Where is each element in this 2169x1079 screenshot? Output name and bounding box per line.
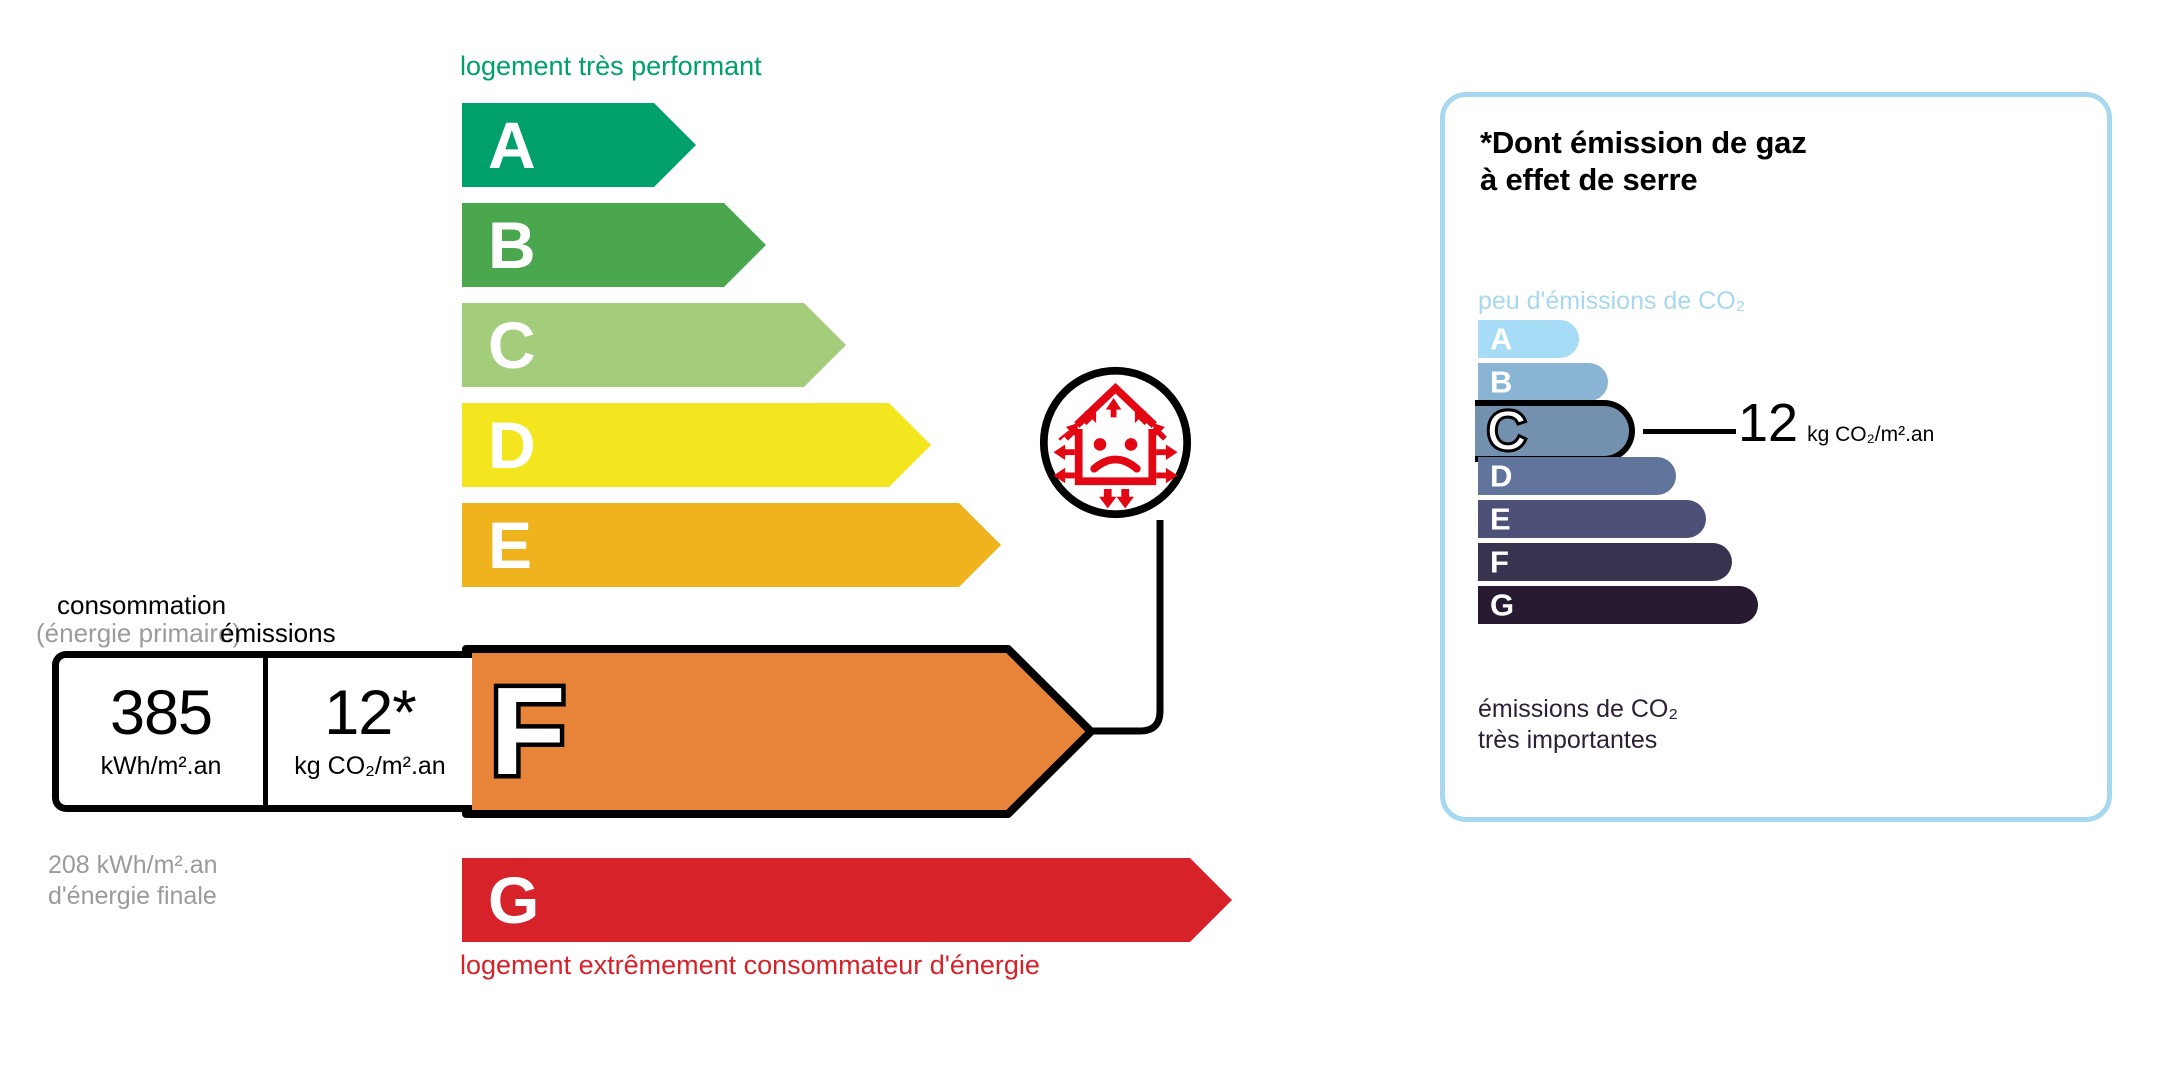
energy-bar-e: E — [462, 503, 1001, 587]
co2-bar-d: D — [1478, 457, 1676, 495]
co2-bar-f-letter: F — [1490, 547, 1509, 578]
consumption-value: 385 — [110, 682, 212, 745]
co2-bar-f: F — [1478, 543, 1732, 581]
co2-leader-line — [1643, 429, 1736, 434]
sad-house-heat-loss-icon — [1038, 365, 1193, 520]
energy-bar-g: G — [462, 858, 1232, 942]
co2-emissions-panel: *Dont émission de gaz à effet de serre p… — [1440, 92, 2112, 822]
energy-bar-e-shape — [462, 503, 1001, 587]
co2-bottom-caption-line1: émissions de CO₂ — [1478, 694, 1678, 725]
co2-unit: kg CO₂/m².an — [1807, 423, 1934, 447]
co2-bar-b-letter: B — [1490, 367, 1512, 398]
co2-title-line2: à effet de serre — [1480, 162, 1807, 199]
co2-value: 12 — [1738, 396, 1798, 450]
emissions-value-cell: 12* kg CO₂/m².an — [268, 658, 472, 805]
energy-bar-a-letter: A — [488, 112, 536, 178]
energy-top-caption: logement très performant — [460, 51, 762, 82]
consumption-header-sublabel: (énergie primaire) — [36, 618, 241, 649]
energy-bar-c: C — [462, 303, 846, 387]
energy-bar-f-letter: F — [490, 670, 566, 794]
co2-bar-b: B — [1478, 363, 1608, 401]
co2-bar-c-selected: C — [1475, 400, 1635, 462]
co2-panel-title: *Dont émission de gaz à effet de serre — [1480, 125, 1807, 198]
consumption-unit: kWh/m².an — [101, 752, 222, 781]
co2-bar-g: G — [1478, 586, 1758, 624]
co2-bar-e: E — [1478, 500, 1706, 538]
consumption-value-cell: 385 kWh/m².an — [59, 658, 268, 805]
co2-bottom-caption-line2: très importantes — [1478, 725, 1678, 756]
co2-bottom-caption: émissions de CO₂ très importantes — [1478, 694, 1678, 757]
co2-value-group: 12 kg CO₂/m².an — [1738, 396, 1934, 450]
emissions-value: 12* — [324, 682, 416, 745]
energy-bottom-caption: logement extrêmement consommateur d'éner… — [460, 950, 1040, 981]
energy-performance-diagram: logement très performant A B C D E — [0, 0, 1430, 1079]
emissions-unit: kg CO₂/m².an — [294, 752, 445, 781]
energy-bar-g-shape — [462, 858, 1232, 942]
energy-bar-b: B — [462, 203, 766, 287]
co2-top-caption: peu d'émissions de CO₂ — [1478, 287, 1745, 316]
co2-bar-c-letter: C — [1487, 404, 1526, 458]
final-energy-note: 208 kWh/m².an d'énergie finale — [48, 850, 218, 913]
co2-bar-e-letter: E — [1490, 504, 1511, 535]
co2-bar-g-letter: G — [1490, 590, 1514, 621]
consumption-header-label: consommation — [57, 590, 226, 621]
energy-bar-f-selected: F — [462, 645, 1095, 818]
co2-title-line1: *Dont émission de gaz — [1480, 125, 1807, 162]
co2-bar-d-letter: D — [1490, 461, 1512, 492]
energy-value-box: 385 kWh/m².an 12* kg CO₂/m².an — [52, 651, 472, 812]
energy-bar-a: A — [462, 103, 696, 187]
energy-bar-c-letter: C — [488, 312, 536, 378]
energy-bar-d-letter: D — [488, 412, 536, 478]
emissions-header-label: émissions — [220, 618, 336, 649]
co2-bar-a-letter: A — [1490, 324, 1512, 355]
energy-bar-e-letter: E — [488, 512, 532, 578]
energy-bar-d: D — [462, 403, 931, 487]
energy-bar-g-letter: G — [488, 867, 539, 933]
final-energy-line2: d'énergie finale — [48, 881, 218, 912]
final-energy-line1: 208 kWh/m².an — [48, 850, 218, 881]
co2-bar-a: A — [1478, 320, 1579, 358]
energy-bar-b-letter: B — [488, 212, 536, 278]
